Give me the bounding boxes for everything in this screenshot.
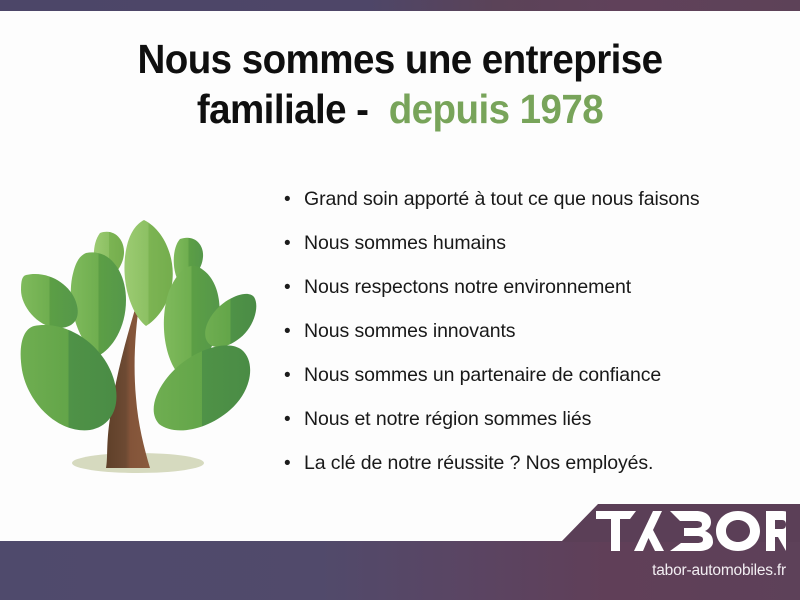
list-item-label: Nous sommes un partenaire de confiance [304,366,661,386]
tree-illustration-svg [14,186,266,478]
page-title-line-2: familiale - depuis 1978 [197,86,603,132]
list-item-label: La clé de notre réussite ? Nos employés. [304,454,653,474]
list-item-label: Nous sommes humains [304,234,506,254]
tree-illustration [14,186,266,478]
tabor-wordmark-icon [596,511,786,551]
bullet-marker-icon: • [284,234,304,253]
list-item: • Nous respectons notre environnement [284,278,784,322]
bullet-marker-icon: • [284,454,304,473]
list-item: • Nous sommes innovants [284,322,784,366]
slide-canvas: Nous sommes une entreprise familiale - d… [0,0,800,600]
list-item: • Grand soin apporté à tout ce que nous … [284,190,784,234]
bullet-marker-icon: • [284,366,304,385]
page-title-line-2-plain: familiale - [197,86,389,132]
list-item: • Nous et notre région sommes liés [284,410,784,454]
tree-leaf-lower-right [154,345,250,430]
value-bullet-list: • Grand soin apporté à tout ce que nous … [284,190,784,498]
bullet-marker-icon: • [284,410,304,429]
page-title-accent: depuis 1978 [389,86,603,132]
tree-leaf-mid-left [21,274,78,328]
brand-website-url: tabor-automobiles.fr [596,562,786,580]
list-item-label: Nous et notre région sommes liés [304,410,591,430]
top-brand-band [0,0,800,11]
page-title-line-1: Nous sommes une entreprise [137,36,662,82]
list-item-label: Nous respectons notre environnement [304,278,631,298]
list-item: • La clé de notre réussite ? Nos employé… [284,454,784,498]
list-item-label: Nous sommes innovants [304,322,515,342]
bullet-marker-icon: • [284,190,304,209]
bullet-marker-icon: • [284,322,304,341]
tabor-logo [596,511,786,551]
list-item: • Nous sommes un partenaire de confiance [284,366,784,410]
bullet-marker-icon: • [284,278,304,297]
list-item-label: Grand soin apporté à tout ce que nous fa… [304,190,700,210]
page-title: Nous sommes une entreprise familiale - d… [62,34,739,135]
list-item: • Nous sommes humains [284,234,784,278]
